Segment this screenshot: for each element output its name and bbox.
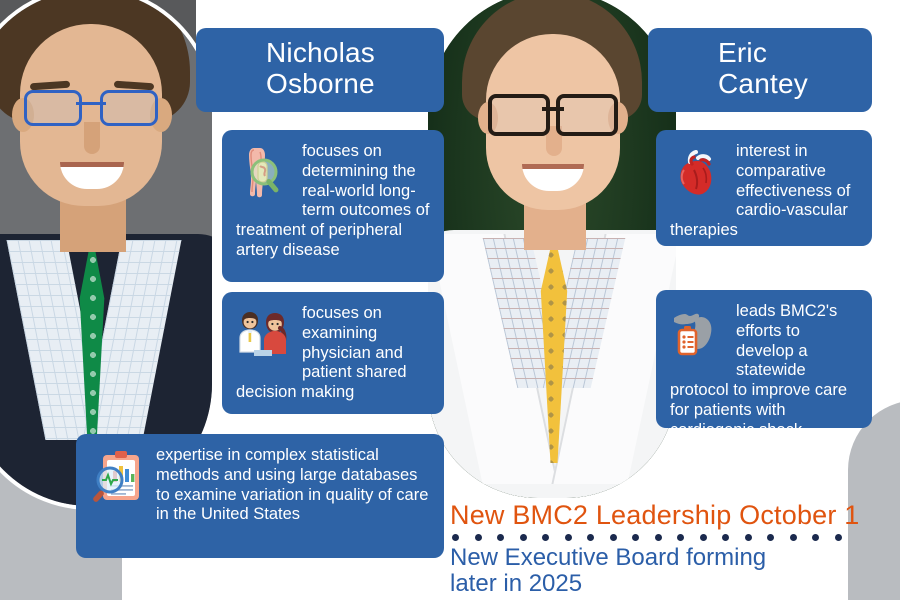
divider-dot: [745, 534, 752, 541]
bullet-card-shared-decision-making: focuses on examining physician and patie…: [222, 292, 444, 414]
divider-dot: [610, 534, 617, 541]
person-first-name: Nicholas: [266, 38, 430, 69]
announcement-dot-divider: [452, 531, 842, 543]
clipboard-chart-magnifier-icon: [90, 448, 148, 506]
divider-dot: [565, 534, 572, 541]
divider-dot: [587, 534, 594, 541]
person-first-name: Eric: [718, 38, 858, 69]
divider-dot: [475, 534, 482, 541]
anatomical-heart-icon: [670, 144, 728, 202]
poster-canvas: Nicholas Osborne focuses on determining …: [0, 0, 900, 600]
bullet-card-peripheral-artery-disease: focuses on determining the real-world lo…: [222, 130, 444, 282]
divider-dot: [542, 534, 549, 541]
physician-patient-icon: [236, 306, 294, 364]
divider-dot: [520, 534, 527, 541]
bullet-card-cardiogenic-shock-protocol: leads BMC2's efforts to develop a statew…: [656, 290, 872, 428]
bullet-card-statistical-methods: expertise in complex statistical methods…: [76, 434, 444, 558]
name-card-nicholas-osborne: Nicholas Osborne: [196, 28, 444, 112]
announcement-subline-line1: New Executive Board forming: [450, 545, 850, 571]
announcement-subline-line2: later in 2025: [450, 571, 850, 597]
announcement-headline: New BMC2 Leadership October 1: [450, 500, 860, 531]
divider-dot: [677, 534, 684, 541]
michigan-map-clipboard-icon: [670, 304, 728, 362]
person-last-name: Osborne: [266, 69, 430, 100]
divider-dot: [767, 534, 774, 541]
divider-dot: [632, 534, 639, 541]
divider-dot: [835, 534, 842, 541]
name-card-eric-cantey: Eric Cantey: [648, 28, 872, 112]
divider-dot: [700, 534, 707, 541]
divider-dot: [812, 534, 819, 541]
divider-dot: [452, 534, 459, 541]
portrait-photo-eric-cantey: [428, 0, 676, 498]
divider-dot: [497, 534, 504, 541]
divider-dot: [655, 534, 662, 541]
announcement-subline: New Executive Board forming later in 202…: [450, 545, 850, 597]
leg-vein-magnifier-icon: [236, 144, 294, 202]
divider-dot: [790, 534, 797, 541]
bullet-card-cardiovascular-therapies: interest in comparative effectiveness of…: [656, 130, 872, 246]
divider-dot: [722, 534, 729, 541]
person-last-name: Cantey: [718, 69, 858, 100]
